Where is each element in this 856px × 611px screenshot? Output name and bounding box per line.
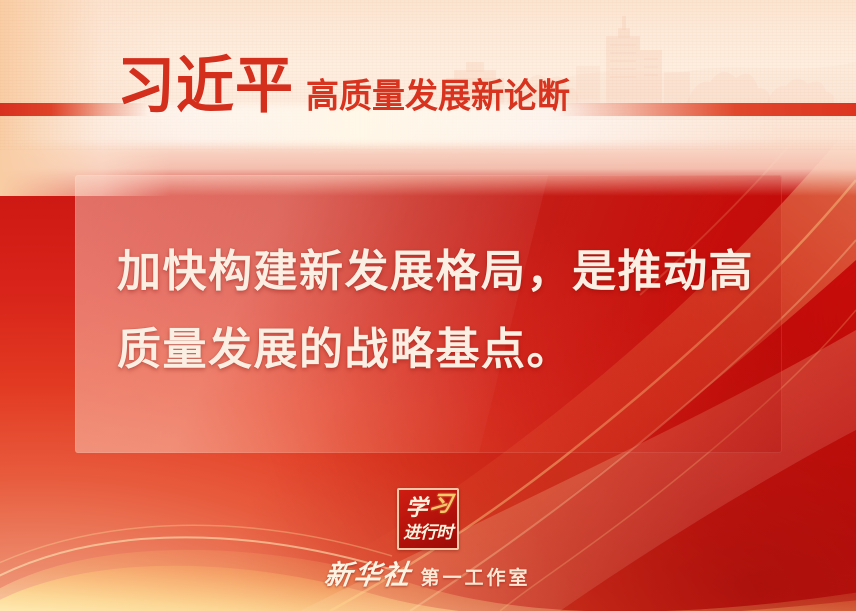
header-title-row: 习近平 高质量发展新论断 bbox=[117, 58, 570, 116]
logo-char-xue: 学 bbox=[405, 496, 427, 522]
footer-credit: 新华社 第一工作室 bbox=[0, 553, 856, 592]
xuexi-jinxingshi-logo[interactable]: 学 习 进行时 bbox=[397, 488, 459, 550]
footer-agency-name: 新华社 bbox=[323, 553, 415, 592]
red-rule-right bbox=[556, 103, 856, 116]
page-subtitle: 高质量发展新论断 bbox=[306, 79, 570, 116]
quote-card: 加快构建新发展格局，是推动高 质量发展的战略基点。 bbox=[75, 175, 782, 453]
footer-studio-name: 第一工作室 bbox=[420, 563, 530, 590]
logo-line-1: 学 习 bbox=[405, 496, 450, 523]
page-title: 习近平 bbox=[117, 55, 294, 116]
quote-text: 加快构建新发展格局，是推动高 质量发展的战略基点。 bbox=[117, 233, 757, 389]
logo-line-2: 进行时 bbox=[403, 523, 453, 543]
logo-char-xi: 习 bbox=[427, 493, 454, 515]
poster-root: 习近平 高质量发展新论断 加快构建新发展格局，是推动高 质量发展的战略基点。 学… bbox=[0, 0, 856, 611]
